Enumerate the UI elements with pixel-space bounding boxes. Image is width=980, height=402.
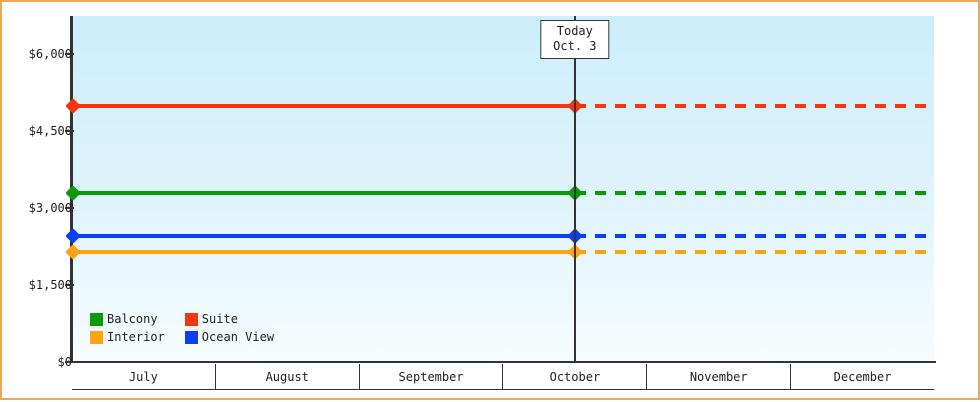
today-label-line1: Today [553, 24, 596, 39]
legend-swatch-icon [90, 331, 103, 344]
y-axis-tick-mark [65, 207, 74, 209]
y-axis: $6,000$4,500$3,000$1,500$0 [2, 2, 72, 402]
x-axis-month-band: JulyAugustSeptemberOctoberNovemberDecemb… [72, 364, 934, 390]
legend-swatch-icon [90, 313, 103, 326]
y-axis-tick-label: $6,000 [10, 47, 72, 61]
y-axis-tick-label: $3,000 [10, 201, 72, 215]
x-axis-month-july[interactable]: July [72, 364, 216, 389]
x-axis-line [70, 361, 936, 363]
x-axis-month-december[interactable]: December [791, 364, 934, 389]
legend-item-interior[interactable]: Interior [90, 330, 165, 344]
y-axis-tick-label: $4,500 [10, 124, 72, 138]
plot-area [72, 16, 934, 362]
series-line-dashed-suite [575, 104, 934, 108]
legend-item-label: Suite [202, 312, 238, 326]
legend-item-ocean-view[interactable]: Ocean View [185, 330, 274, 344]
y-axis-tick-mark [65, 284, 74, 286]
legend-item-label: Balcony [107, 312, 158, 326]
y-axis-tick-label: $1,500 [10, 278, 72, 292]
y-axis-tick-mark [65, 361, 74, 363]
x-axis-month-october[interactable]: October [503, 364, 647, 389]
today-label-line2: Oct. 3 [553, 39, 596, 54]
legend-swatch-icon [185, 313, 198, 326]
legend-item-label: Interior [107, 330, 165, 344]
today-vertical-line [574, 16, 576, 363]
series-line-solid-suite [72, 104, 575, 108]
y-axis-tick-mark [65, 53, 74, 55]
series-line-dashed-balcony [575, 191, 934, 195]
y-axis-tick-label: $0 [10, 355, 72, 369]
x-axis-month-august[interactable]: August [216, 364, 360, 389]
chart-legend: BalconySuiteInteriorOcean View [90, 312, 274, 344]
legend-item-label: Ocean View [202, 330, 274, 344]
chart-frame: $6,000$4,500$3,000$1,500$0 Today Oct. 3 … [0, 0, 980, 400]
y-axis-tick-mark [65, 130, 74, 132]
x-axis-month-november[interactable]: November [647, 364, 791, 389]
series-line-dashed-interior [575, 250, 934, 254]
series-line-dashed-ocean-view [575, 234, 934, 238]
series-line-solid-ocean-view [72, 234, 575, 238]
today-label-box: Today Oct. 3 [540, 20, 609, 59]
series-line-solid-balcony [72, 191, 575, 195]
legend-item-suite[interactable]: Suite [185, 312, 274, 326]
legend-swatch-icon [185, 331, 198, 344]
legend-item-balcony[interactable]: Balcony [90, 312, 165, 326]
x-axis-month-september[interactable]: September [360, 364, 504, 389]
series-line-solid-interior [72, 250, 575, 254]
